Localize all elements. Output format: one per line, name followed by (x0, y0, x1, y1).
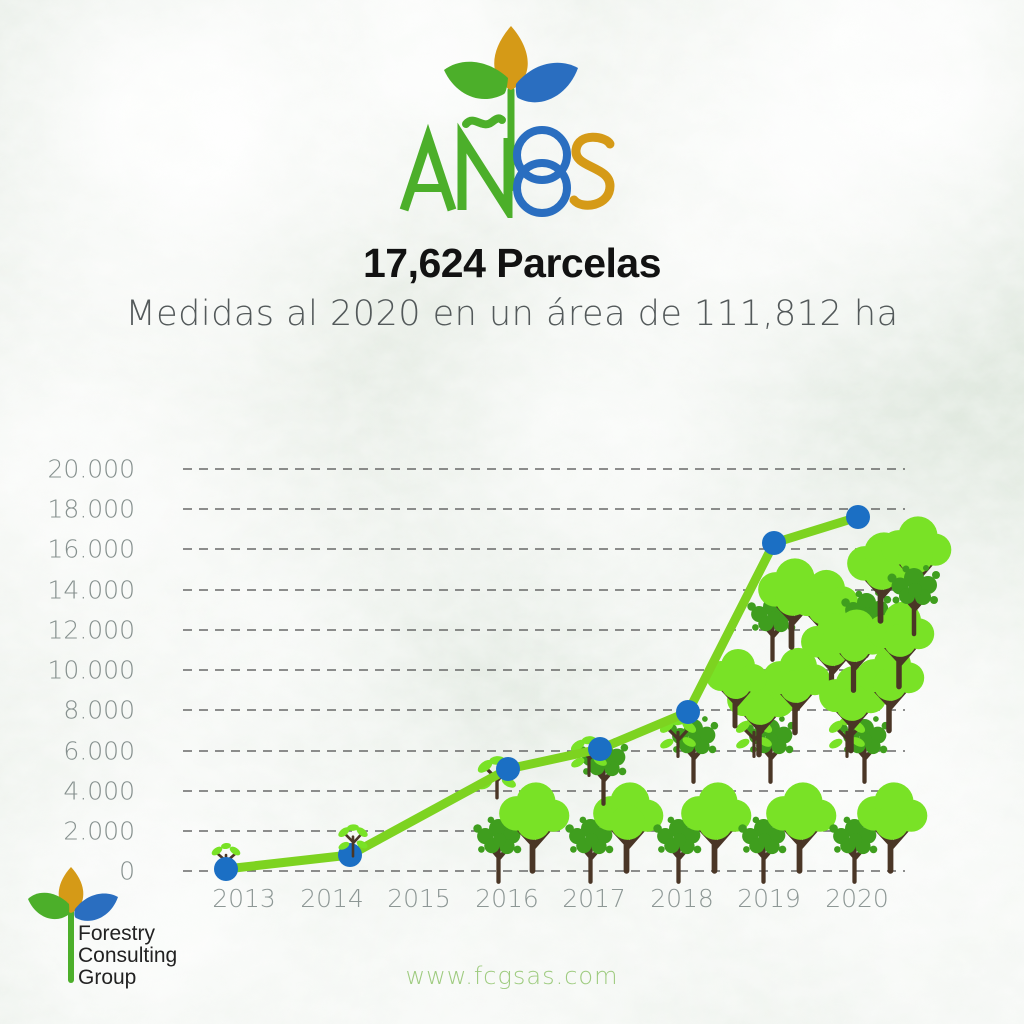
x-tick-2014: 2014 (287, 884, 377, 913)
website-url[interactable]: www.fcgsas.com (0, 962, 1024, 990)
infographic-poster: AÑOS 17,624 Parcelas Medidas al 2020 en … (0, 0, 1024, 1024)
data-point-2017 (588, 737, 612, 761)
data-point-2016 (496, 757, 520, 781)
data-point-2018 (676, 700, 700, 724)
x-tick-2015: 2015 (374, 884, 464, 913)
x-tick-2020: 2020 (812, 884, 902, 913)
x-tick-2018: 2018 (637, 884, 727, 913)
y-tick-18000: 18.000 (30, 495, 135, 524)
x-tick-2016: 2016 (462, 884, 552, 913)
y-tick-20000: 20.000 (30, 455, 135, 484)
y-tick-2000: 2.000 (30, 817, 135, 846)
fcg-logo-line-1: Forestry (78, 922, 156, 945)
y-tick-12000: 12.000 (30, 616, 135, 645)
data-point-2020 (846, 505, 870, 529)
y-tick-4000: 4.000 (30, 777, 135, 806)
x-tick-2013: 2013 (199, 884, 289, 913)
y-tick-16000: 16.000 (30, 535, 135, 564)
y-tick-6000: 6.000 (30, 737, 135, 766)
forest-pictogram (473, 516, 951, 881)
data-point-2019 (762, 531, 786, 555)
x-tick-2019: 2019 (724, 884, 814, 913)
data-point-2013 (214, 857, 238, 881)
y-tick-14000: 14.000 (30, 576, 135, 605)
x-tick-2017: 2017 (549, 884, 639, 913)
y-tick-8000: 8.000 (30, 696, 135, 725)
y-tick-10000: 10.000 (30, 656, 135, 685)
